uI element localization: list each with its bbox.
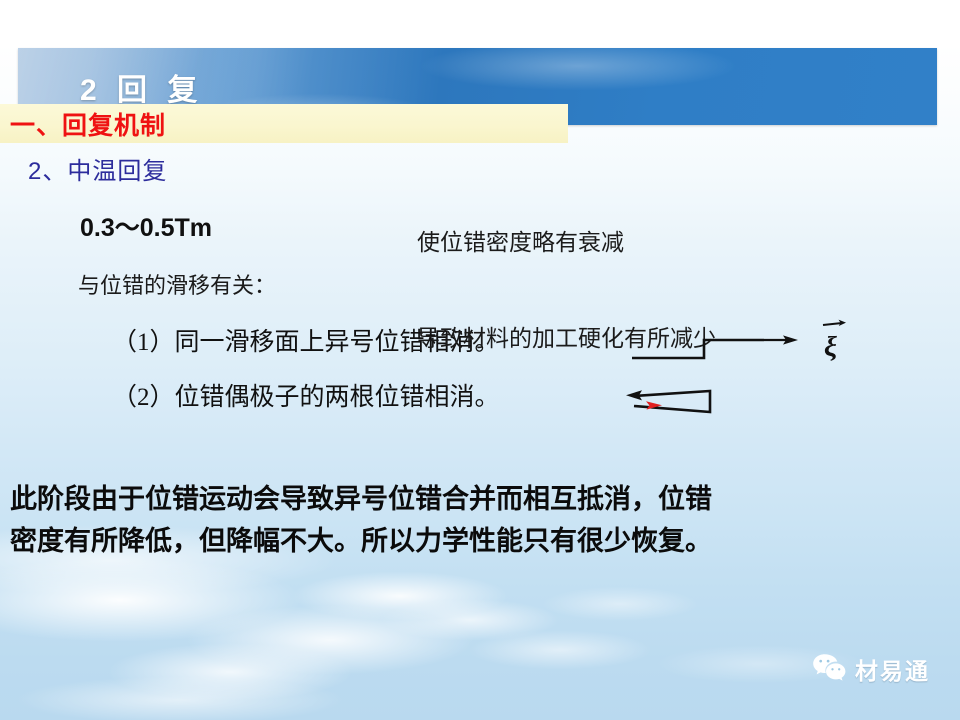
- svg-text:ξ: ξ: [824, 331, 837, 363]
- step-line-with-right-arrow: [632, 335, 798, 358]
- slide-canvas: 2 回 复 一、回复机制 2、中温回复 0.3～0.5Tm 与位错的滑移有关： …: [0, 0, 960, 720]
- temperature-range-value: 0.3～0.5Tm: [80, 208, 212, 244]
- watermark-label: 材易通: [855, 652, 930, 686]
- conclusion-paragraph: 此阶段由于位错运动会导致异号位错合并而相互抵消，位错 密度有所降低，但降幅不大。…: [10, 478, 950, 562]
- subsection-banner: 一、回复机制: [0, 104, 568, 143]
- page-title: 2 回 复: [80, 65, 203, 109]
- dipole-wedge-with-left-arrow: [626, 390, 710, 412]
- diagram-svg: ξ: [612, 312, 872, 437]
- wechat-icon-svg: [812, 653, 846, 681]
- wechat-icon: [812, 653, 846, 686]
- mid-temperature-heading: 2、中温回复: [28, 151, 167, 186]
- dislocation-annihilation-diagram: ξ: [612, 312, 872, 437]
- effect-note-line-1: 使位错密度略有衰减: [417, 227, 716, 259]
- subsection-label: 一、回复机制: [10, 106, 166, 142]
- glide-intro-text: 与位错的滑移有关：: [78, 268, 276, 300]
- watermark: 材易通: [812, 652, 930, 686]
- xi-vector-symbol: ξ: [823, 320, 846, 363]
